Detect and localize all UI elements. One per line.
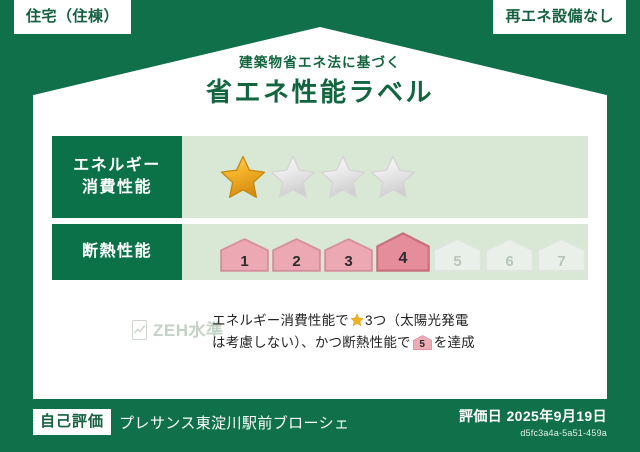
insulation-level-value: 2 xyxy=(272,254,321,269)
insulation-level-3: 3 xyxy=(324,238,373,272)
zeh-description: エネルギー消費性能で 3つ（太陽光発電 は考慮しない）、かつ断熱性能で 5を達成 xyxy=(212,310,475,354)
building-type-badge: 住宅（住棟） xyxy=(14,0,131,34)
insulation-level-2: 2 xyxy=(272,238,321,272)
zeh-description-line2-pre: は考慮しない）、かつ断熱性能で xyxy=(212,335,411,350)
energy-performance-label-line1: エネルギー xyxy=(73,155,161,177)
energy-performance-label: 住宅（住棟） 再エネ設備なし 建築物省エネ法に基づく 省エネ性能ラベル エネルギ… xyxy=(0,0,640,452)
page-title: 省エネ性能ラベル xyxy=(0,79,640,105)
footer-right: 評価日 2025年9月19日 d5fc3a4a-5a51-459a xyxy=(459,408,607,438)
ratings-section: エネルギー 消費性能 断熱性能 1234567 xyxy=(52,136,588,286)
insulation-level-6: 6 xyxy=(485,238,534,272)
zeh-description-line1-post: 3つ（太陽光発電 xyxy=(365,313,469,328)
inline-star-icon xyxy=(350,312,364,326)
insulation-level-value: 6 xyxy=(485,254,534,269)
insulation-performance-value: 1234567 xyxy=(182,224,588,280)
insulation-performance-label: 断熱性能 xyxy=(52,224,182,280)
star-rating xyxy=(220,154,416,200)
insulation-level-7: 7 xyxy=(537,238,586,272)
insulation-level-value: 1 xyxy=(220,254,269,269)
star-icon-empty xyxy=(270,154,316,200)
label-id: d5fc3a4a-5a51-459a xyxy=(459,428,607,438)
zeh-description-line2: は考慮しない）、かつ断熱性能で 5を達成 xyxy=(212,332,475,354)
zeh-description-line1: エネルギー消費性能で 3つ（太陽光発電 xyxy=(212,310,475,332)
insulation-level-value: 3 xyxy=(324,254,373,269)
energy-performance-value xyxy=(182,136,588,218)
insulation-level-5: 5 xyxy=(433,238,482,272)
insulation-performance-row: 断熱性能 1234567 xyxy=(52,224,588,280)
energy-performance-row: エネルギー 消費性能 xyxy=(52,136,588,218)
insulation-level-value: 7 xyxy=(537,254,586,269)
self-evaluation-badge: 自己評価 xyxy=(33,409,111,435)
property-name: プレサンス東淀川駅前ブローシェ xyxy=(119,412,349,433)
zeh-description-line1-pre: エネルギー消費性能で xyxy=(212,313,349,328)
renewable-equipment-badge: 再エネ設備なし xyxy=(493,0,626,34)
zeh-description-line2-post: を達成 xyxy=(434,335,475,350)
footer-left: 自己評価 プレサンス東淀川駅前ブローシェ xyxy=(33,409,349,435)
label-footer: 自己評価 プレサンス東淀川駅前ブローシェ 評価日 2025年9月19日 d5fc… xyxy=(0,399,640,452)
evaluation-date: 評価日 2025年9月19日 xyxy=(459,408,607,425)
insulation-level-4: 4 xyxy=(376,232,430,272)
zeh-mark: ZEH水準 xyxy=(52,310,212,340)
heading-subtitle: 建築物省エネ法に基づく xyxy=(0,56,640,70)
insulation-level-value: 5 xyxy=(433,254,482,269)
insulation-performance-label-text: 断熱性能 xyxy=(82,241,152,263)
insulation-level-1: 1 xyxy=(220,238,269,272)
star-icon-filled xyxy=(220,154,266,200)
zeh-section: ZEH水準 エネルギー消費性能で 3つ（太陽光発電 は考慮しない）、かつ断熱性能… xyxy=(52,310,588,354)
zeh-checkbox-icon xyxy=(132,320,147,340)
insulation-level-value: 4 xyxy=(376,251,430,267)
inline-insulation-level-icon: 5 xyxy=(413,335,432,350)
insulation-level-scale: 1234567 xyxy=(220,232,586,272)
inline-insulation-level-value: 5 xyxy=(413,339,432,350)
energy-performance-label: エネルギー 消費性能 xyxy=(52,136,182,218)
star-icon-empty xyxy=(320,154,366,200)
heading-block: 建築物省エネ法に基づく 省エネ性能ラベル xyxy=(0,56,640,105)
energy-performance-label-line2: 消費性能 xyxy=(82,177,152,199)
star-icon-empty xyxy=(370,154,416,200)
